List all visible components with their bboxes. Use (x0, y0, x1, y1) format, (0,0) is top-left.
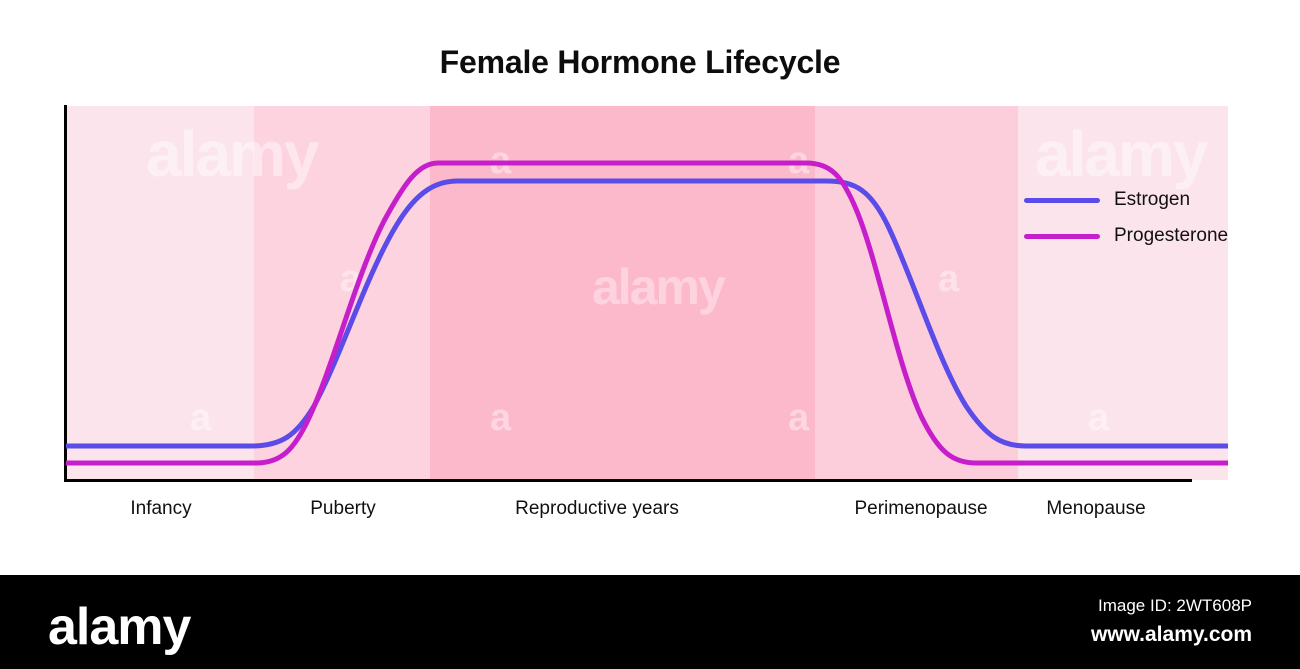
legend-label-progesterone: Progesterone (1114, 225, 1228, 247)
x-label-puberty: Puberty (310, 498, 375, 520)
legend-label-estrogen: Estrogen (1114, 189, 1190, 211)
legend-swatch-estrogen (1024, 198, 1100, 203)
alamy-logo: alamy (48, 597, 190, 657)
chart-title: Female Hormone Lifecycle (0, 44, 1280, 81)
x-label-menopause: Menopause (1046, 498, 1145, 520)
x-label-perimenopause: Perimenopause (854, 498, 987, 520)
screenshot-root: Female Hormone Lifecycle alamyalamyalamy… (0, 0, 1300, 669)
x-label-reproductive-years: Reproductive years (515, 498, 679, 520)
stage-band-infancy (66, 106, 254, 480)
legend-item-estrogen[interactable]: Estrogen (1024, 182, 1274, 218)
x-label-infancy: Infancy (130, 498, 191, 520)
x-axis-line (64, 479, 1192, 482)
legend-item-progesterone[interactable]: Progesterone (1024, 218, 1274, 254)
stage-band-menopause (1018, 106, 1228, 480)
chart-legend: Estrogen Progesterone (1024, 182, 1274, 254)
stage-band-perimenopause (815, 106, 1017, 480)
y-axis-line (64, 105, 67, 482)
stage-band-reproductive-years (430, 106, 816, 480)
alamy-url-text: www.alamy.com (1091, 623, 1252, 647)
stage-band-puberty (254, 106, 429, 480)
x-axis-labels: Infancy Puberty Reproductive years Perim… (0, 498, 1300, 532)
alamy-footer-bar: alamy Image ID: 2WT608P www.alamy.com (0, 575, 1300, 669)
chart-figure: Female Hormone Lifecycle alamyalamyalamy… (0, 0, 1300, 575)
plot-area: alamyalamyalamyaaaaaaaa (66, 106, 1228, 480)
legend-swatch-progesterone (1024, 234, 1100, 239)
image-id-text: Image ID: 2WT608P (1098, 596, 1252, 616)
